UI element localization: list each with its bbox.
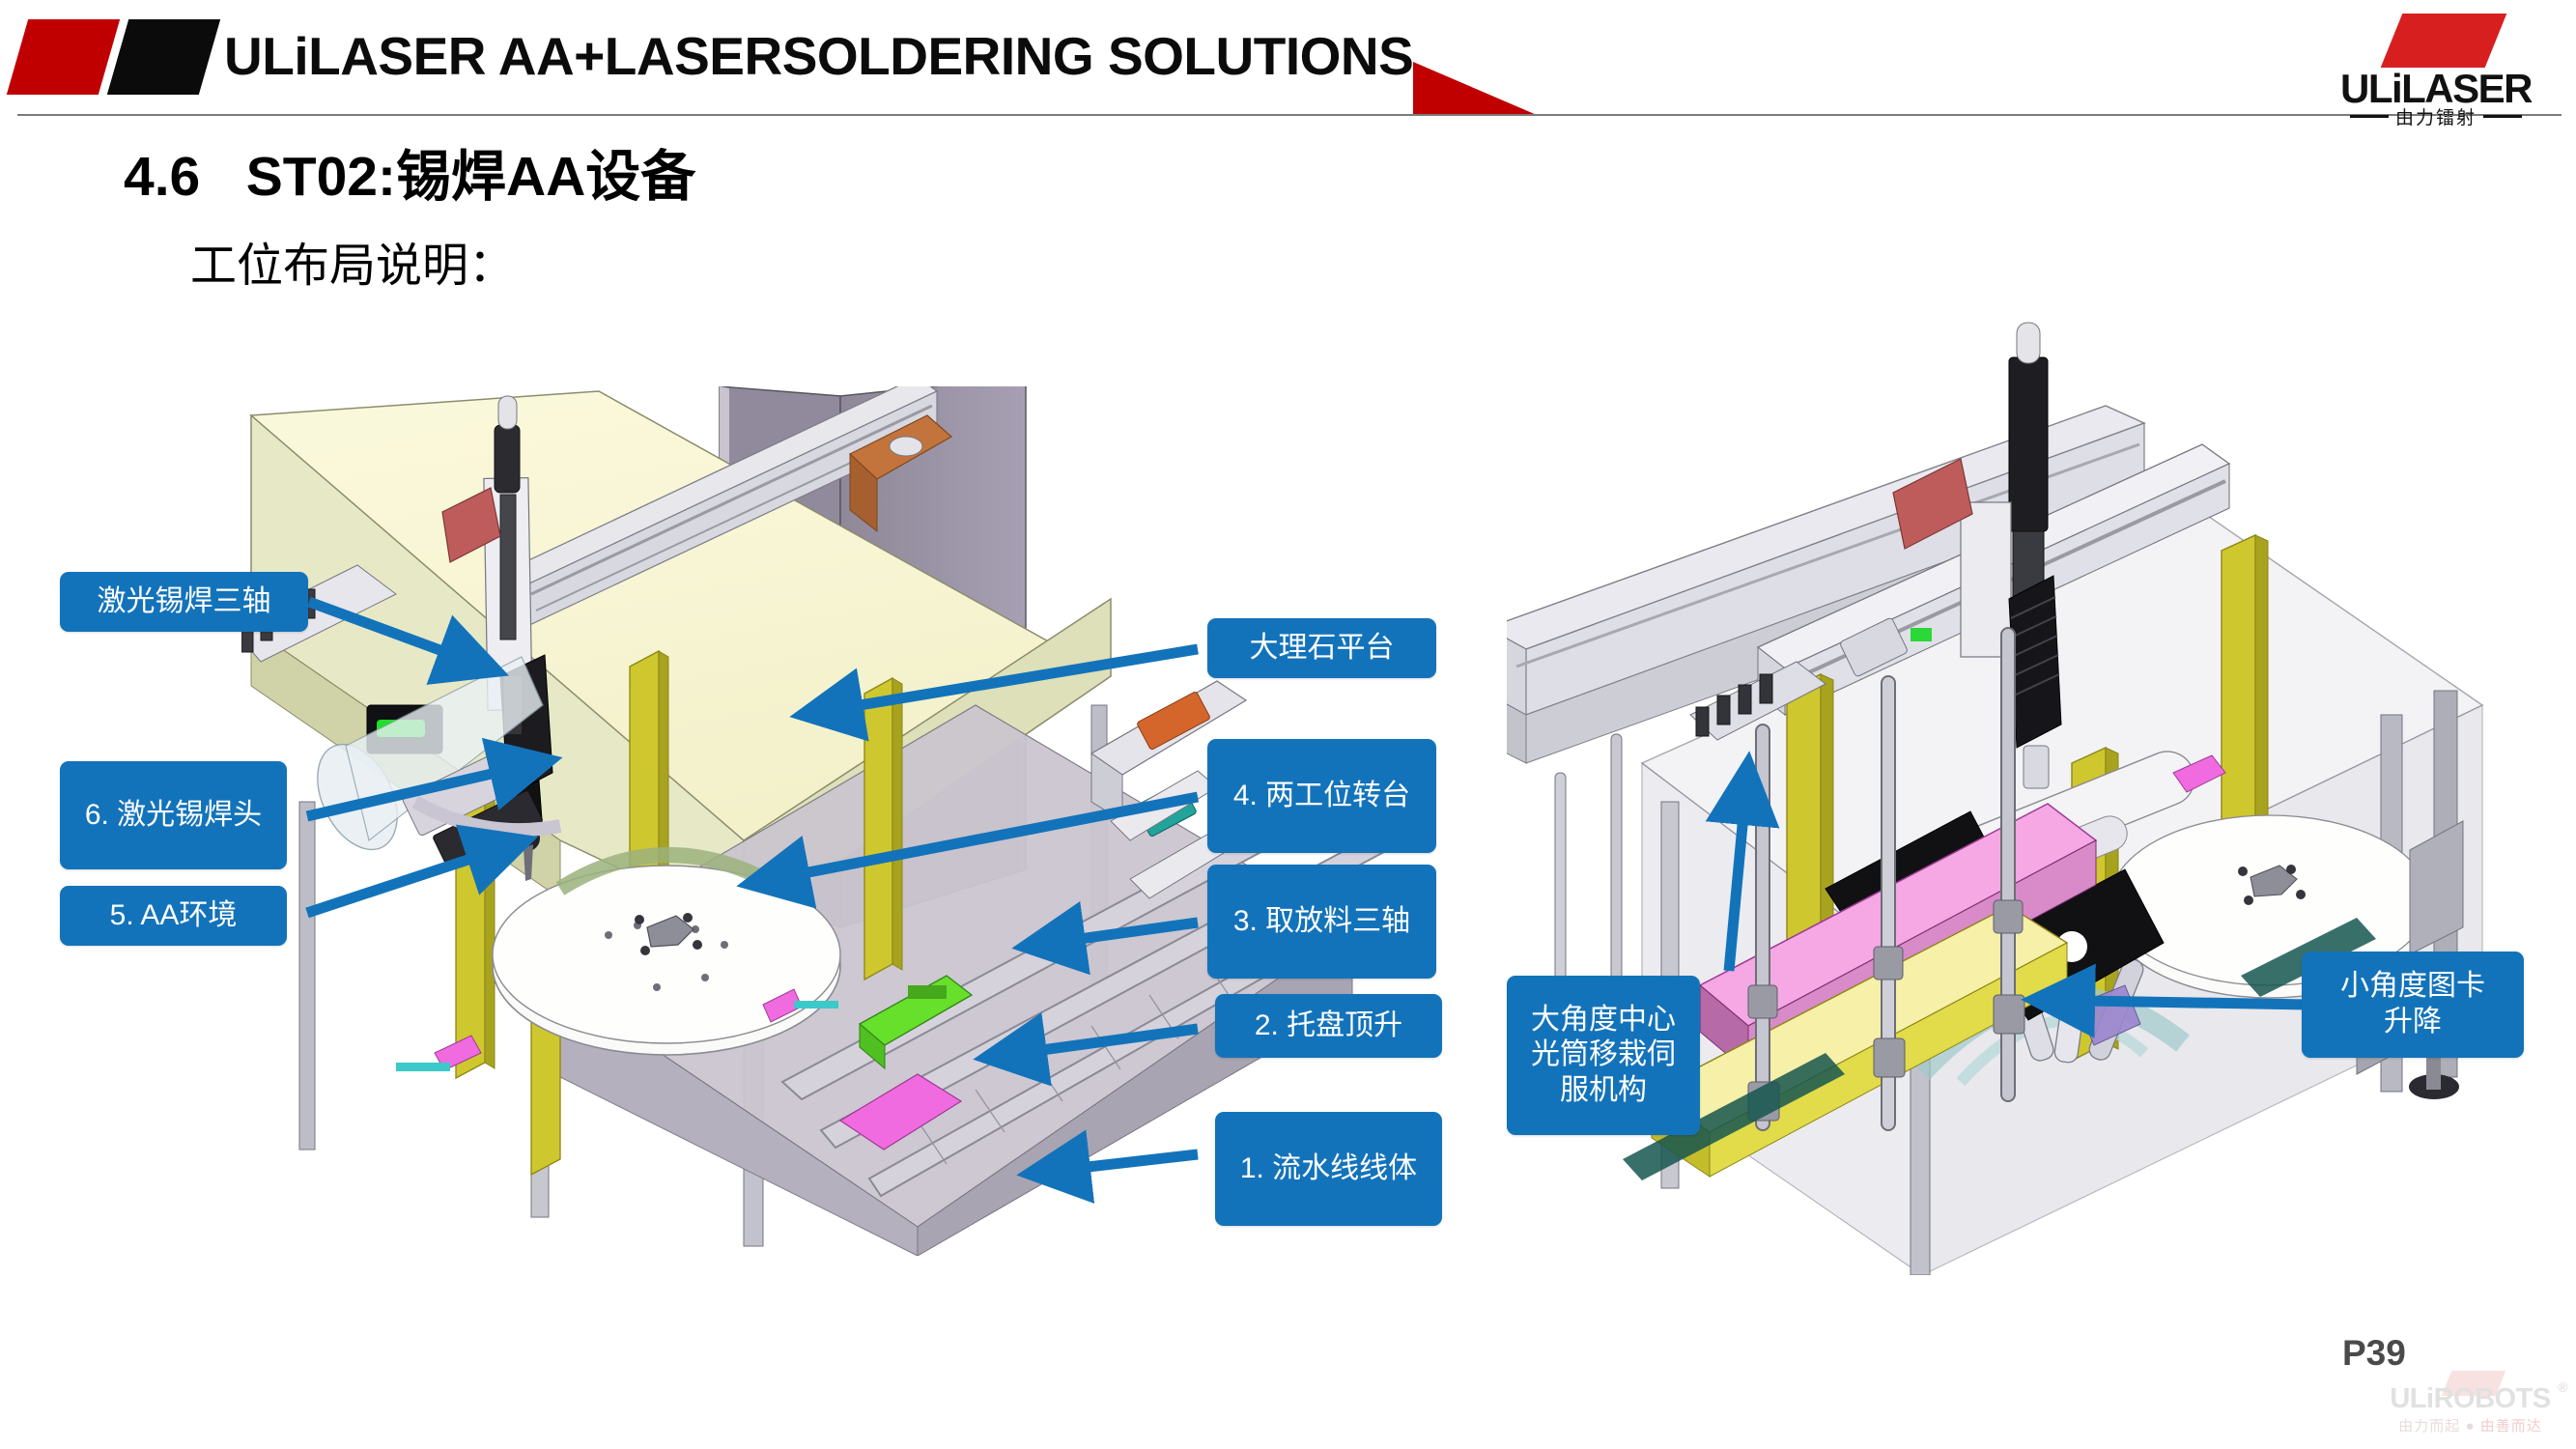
watermark-sub-left: 由力而起: [2398, 1418, 2460, 1435]
brand-rule-right-icon: [2483, 115, 2522, 118]
header-red-bar-icon: [7, 19, 120, 95]
callout-tray-lift[interactable]: 2. 托盘顶升: [1215, 994, 1442, 1058]
watermark-sub-right: 由善而达: [2480, 1418, 2542, 1435]
callout-two-station-turntable[interactable]: 4. 两工位转台: [1207, 739, 1436, 853]
callout-label: 4. 两工位转台: [1233, 779, 1410, 814]
brand-subtitle-row: 由力镭射: [2316, 103, 2556, 129]
callout-small-angle-chart-lift[interactable]: 小角度图卡 升降: [2302, 952, 2524, 1058]
header-divider: [17, 114, 2562, 116]
callout-label: 3. 取放料三轴: [1233, 904, 1410, 940]
page-title: 4.6 ST02:锡焊AA设备: [124, 132, 695, 212]
callout-wide-angle-center-tube-servo[interactable]: 大角度中心 光筒移栽伺 服机构: [1507, 976, 1700, 1135]
callout-label: 5. AA环境: [110, 898, 238, 934]
watermark-subtitle: 由力而起 ● 由善而达: [2371, 1415, 2569, 1435]
callout-label: 1. 流水线线体: [1240, 1151, 1417, 1187]
callout-label: 小角度图卡 升降: [2340, 969, 2485, 1039]
callout-aa-environment[interactable]: 5. AA环境: [60, 886, 287, 946]
watermark-wordmark: ULiROBOTS®: [2371, 1383, 2569, 1415]
page-number: P39: [2342, 1333, 2406, 1374]
callout-conveyor-line-body[interactable]: 1. 流水线线体: [1215, 1112, 1442, 1226]
callout-label: 大角度中心 光筒移栽伺 服机构: [1531, 1003, 1676, 1109]
callout-pick-place-3axis[interactable]: 3. 取放料三轴: [1207, 865, 1436, 979]
watermark-sub-dot: ●: [2465, 1418, 2475, 1435]
brand-slash-icon: [2381, 14, 2507, 68]
header-black-bar-icon: [107, 19, 220, 95]
brand-logo: ULiLASER 由力镭射: [2316, 12, 2556, 113]
brand-rule-left-icon: [2350, 115, 2389, 118]
page-subtitle: 工位布局说明：: [190, 227, 515, 295]
slide-canvas: ULiLASER AA+LASERSOLDERING SOLUTIONS ULi…: [0, 0, 2576, 1449]
callout-label: 大理石平台: [1250, 631, 1395, 667]
slide-header: ULiLASER AA+LASERSOLDERING SOLUTIONS: [0, 0, 2576, 121]
header-title: ULiLASER AA+LASERSOLDERING SOLUTIONS: [224, 25, 1413, 87]
callout-marble-platform[interactable]: 大理石平台: [1207, 618, 1436, 678]
watermark-registered-icon: ®: [2558, 1379, 2567, 1395]
callout-label: 2. 托盘顶升: [1255, 1009, 1402, 1044]
watermark-word-text: ULiROBOTS: [2390, 1383, 2550, 1414]
footer-watermark: ULiROBOTS® 由力而起 ● 由善而达: [2371, 1383, 2569, 1435]
callout-laser-solder-3axis[interactable]: 激光锡焊三轴: [60, 572, 308, 632]
callout-label: 激光锡焊三轴: [98, 584, 271, 620]
callout-laser-solder-head[interactable]: 6. 激光锡焊头: [60, 761, 287, 869]
header-red-triangle-icon: [1413, 62, 1537, 115]
callout-label: 6. 激光锡焊头: [85, 798, 262, 834]
brand-subtitle: 由力镭射: [2395, 103, 2477, 129]
